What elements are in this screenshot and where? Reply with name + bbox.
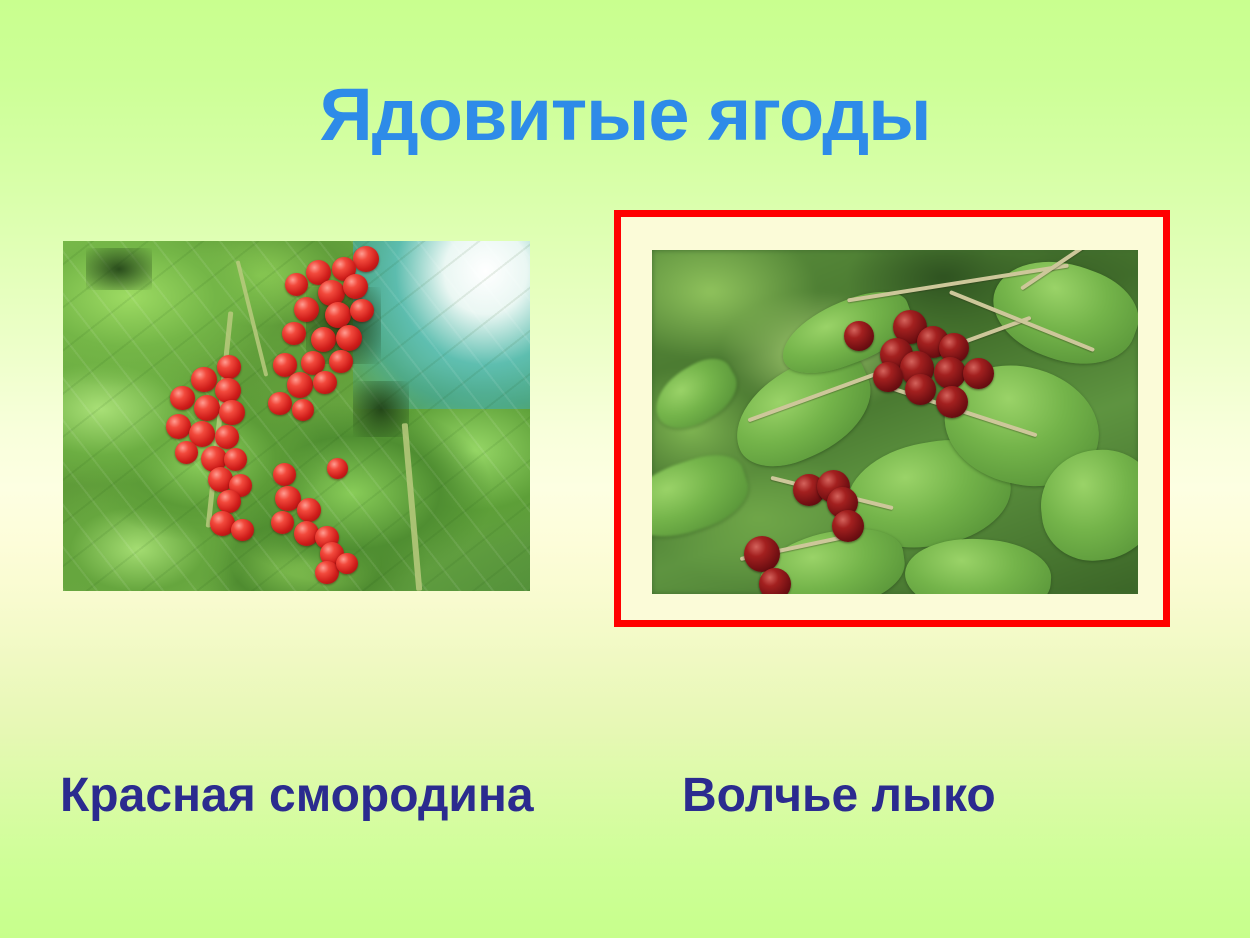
- berry: [313, 371, 337, 395]
- berry: [219, 400, 244, 425]
- berry: [194, 395, 220, 421]
- berry: [170, 386, 194, 410]
- berry: [315, 561, 338, 584]
- berry: [934, 357, 966, 389]
- berry: [217, 355, 241, 379]
- berry: [832, 510, 864, 542]
- caption-wolfbane: Волчье лыко: [682, 772, 996, 820]
- berry: [759, 568, 791, 594]
- berry: [224, 448, 247, 471]
- shadow-patch: [353, 381, 409, 437]
- berry: [311, 327, 336, 352]
- berry: [353, 246, 379, 272]
- berry: [215, 425, 239, 449]
- shadow-patch: [86, 248, 151, 290]
- berry: [268, 392, 291, 415]
- berry: [292, 399, 314, 421]
- berry: [297, 498, 321, 522]
- berry: [191, 367, 216, 392]
- image-frame-wolfbane: [614, 210, 1170, 627]
- berry: [282, 322, 305, 345]
- berry: [271, 511, 294, 534]
- berry: [329, 350, 352, 373]
- berry: [350, 299, 373, 322]
- berry: [744, 536, 780, 572]
- slide-canvas: Ядовитые ягоды: [0, 0, 1250, 938]
- berry: [336, 325, 362, 351]
- image-red-currant: [63, 241, 530, 591]
- berry: [231, 519, 253, 541]
- berry: [336, 553, 357, 574]
- image-wolfbane: [652, 250, 1138, 594]
- caption-red-currant: Красная смородина: [60, 772, 534, 820]
- page-title: Ядовитые ягоды: [0, 78, 1250, 152]
- berry: [936, 386, 968, 418]
- berry: [905, 374, 936, 405]
- berry: [285, 273, 308, 296]
- berry: [844, 321, 874, 351]
- berry: [175, 441, 198, 464]
